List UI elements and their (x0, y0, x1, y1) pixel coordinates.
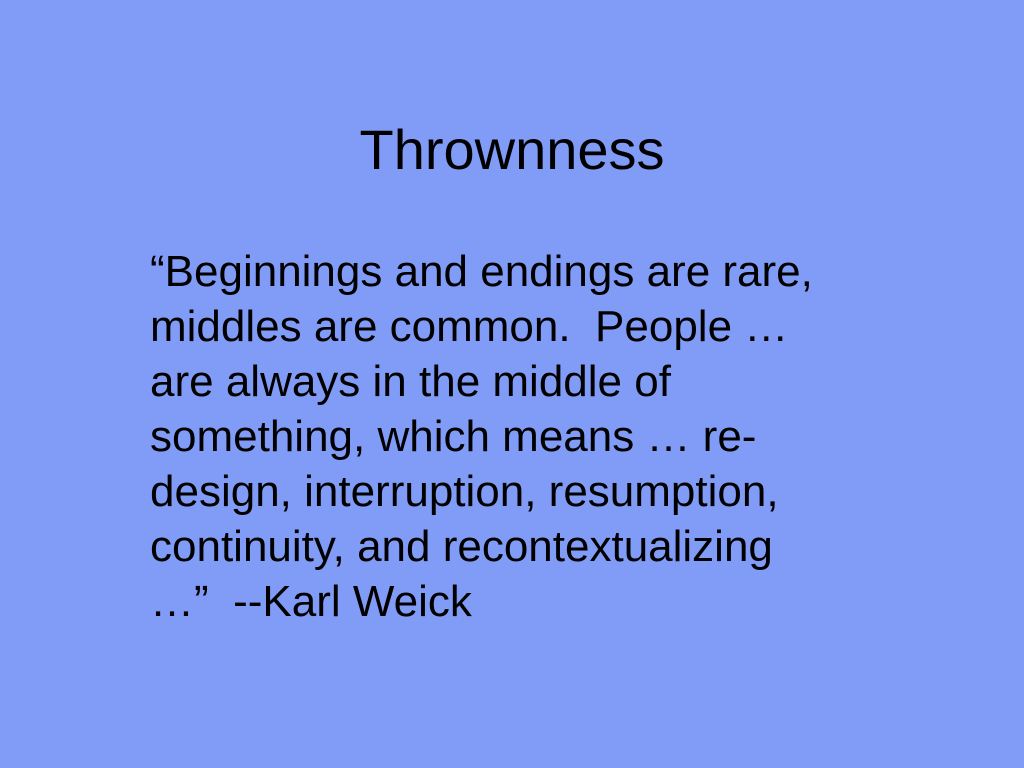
quote-line: are always in the middle of (150, 354, 890, 409)
quote-line: “Beginnings and endings are rare, (150, 244, 890, 299)
page-title: Thrownness (0, 118, 1024, 182)
quote-attribution-line: …” --Karl Weick (150, 574, 890, 629)
quote-line: design, interruption, resumption, (150, 464, 890, 519)
quote-text-block: “Beginnings and endings are rare, middle… (150, 244, 890, 629)
quote-line: something, which means … re- (150, 409, 890, 464)
quote-line: middles are common. People … (150, 299, 890, 354)
presentation-slide: Thrownness “Beginnings and endings are r… (0, 0, 1024, 768)
quote-line: continuity, and recontextualizing (150, 519, 890, 574)
